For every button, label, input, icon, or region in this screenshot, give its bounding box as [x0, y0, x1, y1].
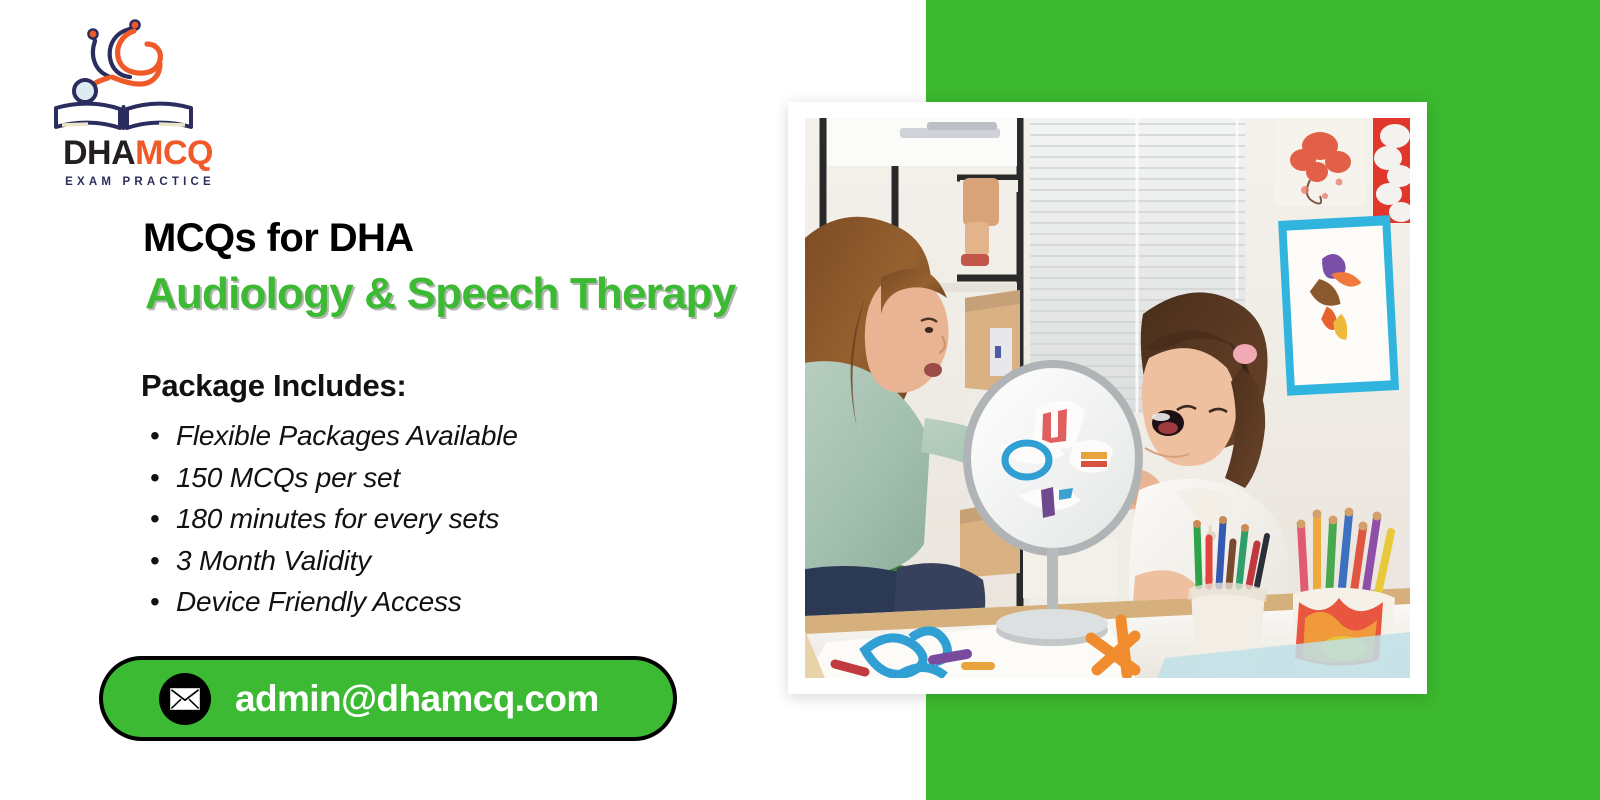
package-includes-title: Package Includes: [141, 368, 406, 404]
logo-word-mcq: MCQ [135, 134, 213, 172]
list-item: • Device Friendly Access [150, 581, 518, 623]
list-item: • 3 Month Validity [150, 540, 518, 582]
promotional-banner: DHAMCQ EXAM PRACTICE MCQs for DHA Audiol… [0, 0, 1600, 800]
headline-subject: Audiology & Speech Therapy [145, 270, 735, 318]
bullet-icon: • [150, 457, 176, 499]
list-item: • 180 minutes for every sets [150, 498, 518, 540]
therapy-session-photo [805, 118, 1410, 678]
list-item-label: 180 minutes for every sets [176, 498, 499, 540]
stethoscope-book-icon [46, 14, 201, 134]
list-item-label: Flexible Packages Available [176, 415, 518, 457]
list-item-label: 150 MCQs per set [176, 457, 400, 499]
list-item: • Flexible Packages Available [150, 415, 518, 457]
brand-logo[interactable]: DHAMCQ EXAM PRACTICE [40, 14, 240, 188]
bullet-icon: • [150, 581, 176, 623]
bullet-icon: • [150, 415, 176, 457]
logo-tagline: EXAM PRACTICE [40, 176, 240, 188]
list-item: • 150 MCQs per set [150, 457, 518, 499]
email-address-label: admin@dhamcq.com [235, 678, 599, 720]
bullet-icon: • [150, 540, 176, 582]
package-features-list: • Flexible Packages Available • 150 MCQs… [150, 415, 518, 623]
headline-primary: MCQs for DHA [143, 216, 414, 260]
photo-frame [788, 102, 1427, 694]
logo-wordmark: DHAMCQ [36, 136, 240, 170]
email-contact-button[interactable]: admin@dhamcq.com [99, 656, 677, 741]
bullet-icon: • [150, 498, 176, 540]
list-item-label: 3 Month Validity [176, 540, 371, 582]
list-item-label: Device Friendly Access [176, 581, 462, 623]
logo-word-dha: DHA [63, 134, 135, 172]
envelope-icon [159, 673, 211, 725]
